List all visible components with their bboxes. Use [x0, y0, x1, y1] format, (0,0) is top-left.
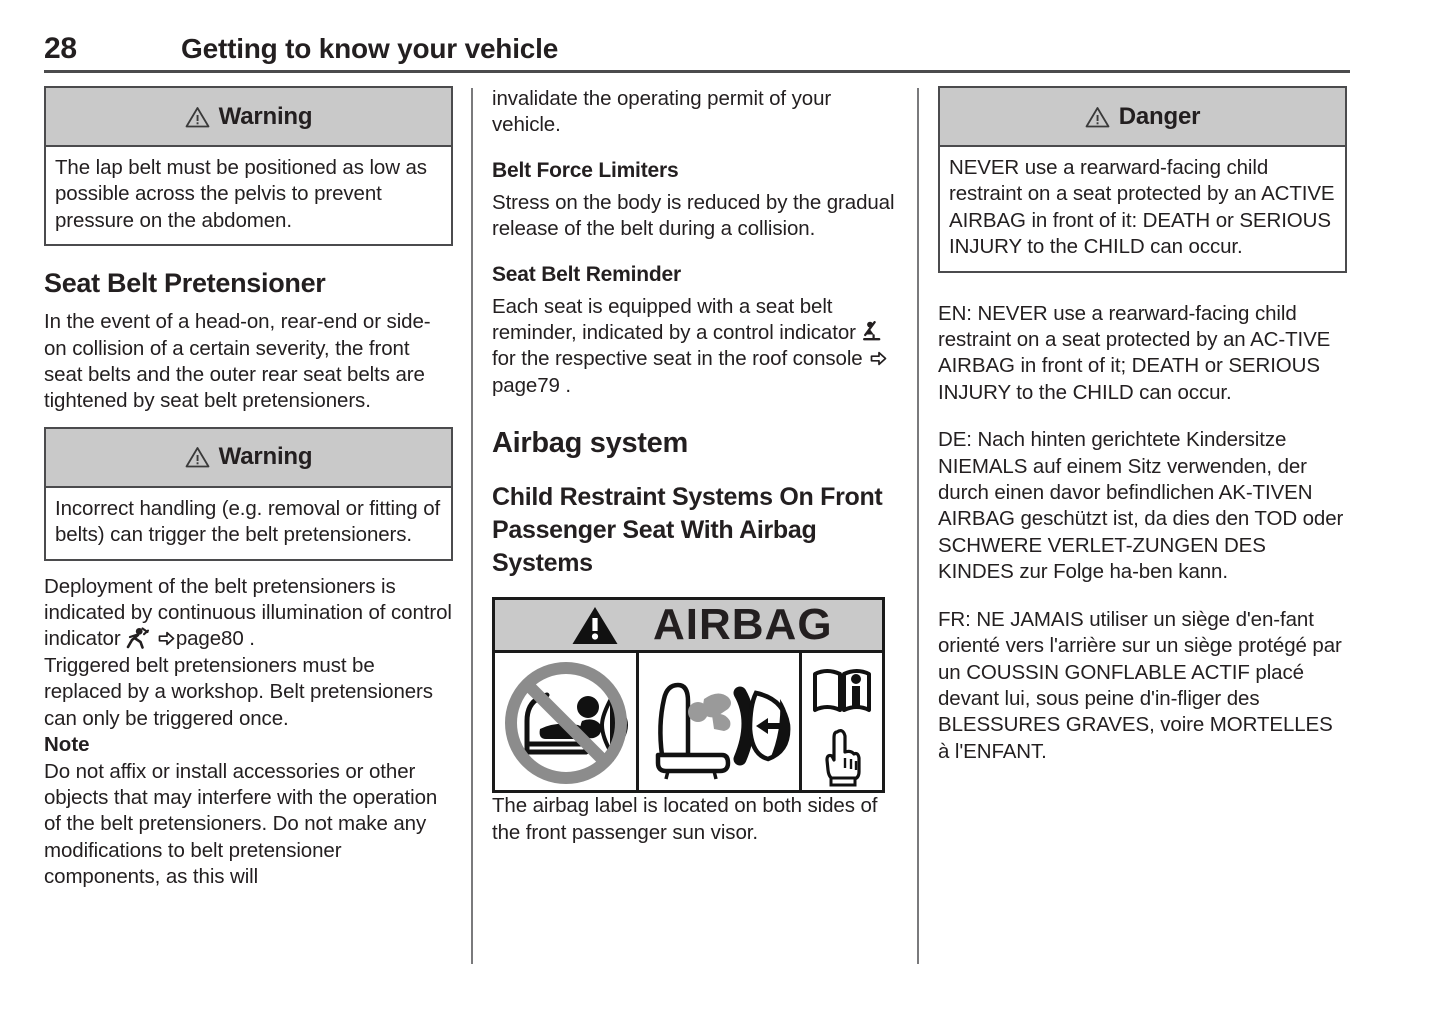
paragraph-deployment-text: Deployment of the belt pretensioners is …: [44, 575, 452, 651]
warning-label: Warning: [219, 103, 313, 131]
heading-belt-force-limiters: Belt Force Limiters: [492, 157, 901, 184]
seat-belt-reminder-indicator-icon: [861, 321, 883, 343]
panel-airbag-deployment-hazard: [639, 653, 802, 793]
paragraph-seat-belt-reminder: Each seat is equipped with a seat belt r…: [492, 294, 901, 400]
paragraph-pretensioner-intro: In the event of a head-on, rear-end or s…: [44, 309, 453, 415]
reminder-text-2: for the respective seat in the roof cons…: [492, 347, 863, 370]
danger-text: NEVER use a rearward-facing child restra…: [949, 155, 1336, 261]
no-rear-facing-child-seat-icon: [500, 659, 632, 787]
airbag-label-panels: [495, 653, 882, 793]
paragraph-continued: invalidate the operating permit of your …: [492, 86, 901, 139]
page-reference-link[interactable]: page79: [492, 374, 560, 397]
reminder-text-1: Each seat is equipped with a seat belt r…: [492, 295, 856, 344]
warning-box-incorrect-handling: Warning Incorrect handling (e.g. removal…: [44, 427, 453, 561]
warning-box-header: Warning: [46, 429, 451, 488]
page-reference-arrow-icon: [870, 350, 887, 367]
header-rule: [44, 70, 1350, 73]
page-number: 28: [44, 32, 77, 66]
paragraph-note: Do not affix or install accessories or o…: [44, 759, 453, 891]
section-heading-airbag-system: Airbag system: [492, 426, 901, 461]
belt-pretensioner-indicator-icon: [126, 627, 150, 649]
manual-page: 28 Getting to know your vehicle Warning …: [0, 0, 1445, 1018]
page-reference-arrow-icon: [158, 630, 175, 647]
note-heading: Note: [44, 732, 453, 758]
panel-read-manual: [802, 653, 882, 793]
column-1: Warning The lap belt must be positioned …: [44, 86, 453, 891]
paragraph-deployment-text-2: Triggered belt pretensioners must be rep…: [44, 654, 433, 730]
paragraph-period: .: [565, 374, 571, 397]
warning-box-header: Warning: [46, 88, 451, 147]
airbag-deployment-hazard-icon: [644, 659, 794, 787]
danger-box-body: NEVER use a rearward-facing child restra…: [940, 147, 1345, 271]
pointing-hand-icon: [821, 726, 863, 788]
section-title-seat-belt-pretensioner: Seat Belt Pretensioner: [44, 267, 453, 300]
warning-triangle-icon: [185, 106, 210, 128]
danger-label: Danger: [1119, 103, 1201, 131]
paragraph-deployment: Deployment of the belt pretensioners is …: [44, 574, 453, 732]
paragraph-warning-de: DE: Nach hinten gerichtete Kindersitze N…: [938, 427, 1347, 585]
warning-box-body: Incorrect handling (e.g. removal or fitt…: [46, 488, 451, 559]
page-reference-link[interactable]: page80: [176, 627, 244, 650]
warning-box-body: The lap belt must be positioned as low a…: [46, 147, 451, 244]
airbag-label-graphic: AIRBAG: [492, 597, 885, 793]
danger-box: Danger NEVER use a rearward-facing child…: [938, 86, 1347, 273]
warning-triangle-filled-icon: [571, 605, 619, 646]
paragraph-belt-force-limiters: Stress on the body is reduced by the gra…: [492, 190, 901, 243]
column-divider-2: [917, 88, 919, 964]
warning-label: Warning: [219, 443, 313, 471]
panel-no-rear-facing-child-seat: [495, 653, 639, 793]
page-header: 28 Getting to know your vehicle: [44, 32, 1350, 70]
warning-triangle-icon: [185, 446, 210, 468]
column-divider-1: [471, 88, 473, 964]
airbag-label-header: AIRBAG: [495, 600, 882, 653]
paragraph-period: .: [249, 627, 255, 650]
danger-box-header: Danger: [940, 88, 1345, 147]
heading-seat-belt-reminder: Seat Belt Reminder: [492, 261, 901, 288]
subheading-child-restraint-systems: Child Restraint Systems On Front Passeng…: [492, 481, 901, 580]
warning-text: The lap belt must be positioned as low a…: [55, 155, 442, 234]
page-title: Getting to know your vehicle: [181, 33, 558, 65]
column-3: Danger NEVER use a rearward-facing child…: [938, 86, 1347, 765]
column-2: invalidate the operating permit of your …: [492, 86, 901, 846]
paragraph-warning-en: EN: NEVER use a rearward-facing child re…: [938, 301, 1347, 407]
manual-book-icon: [811, 662, 873, 718]
caption-airbag-label: The airbag label is located on both side…: [492, 793, 901, 846]
warning-triangle-icon: [1085, 106, 1110, 128]
airbag-word: AIRBAG: [653, 603, 833, 647]
warning-box-lap-belt: Warning The lap belt must be positioned …: [44, 86, 453, 246]
paragraph-warning-fr: FR: NE JAMAIS utiliser un siège d'en-fan…: [938, 607, 1347, 765]
warning-text: Incorrect handling (e.g. removal or fitt…: [55, 496, 442, 549]
